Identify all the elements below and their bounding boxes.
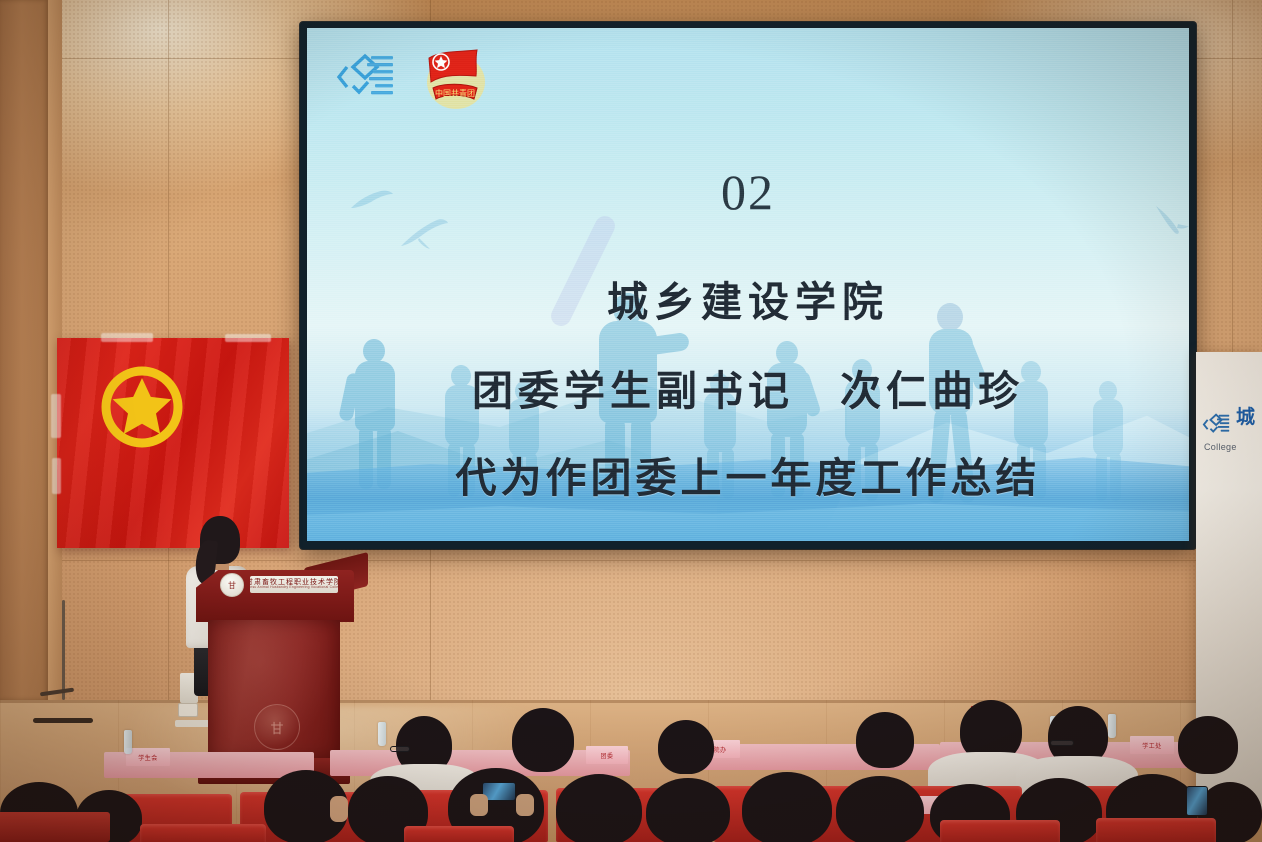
audience-head <box>512 708 574 772</box>
water-bottle <box>124 730 132 754</box>
audience-seat <box>404 826 514 842</box>
water-bottle <box>378 722 386 746</box>
slide-line-1: 城乡建设学院 <box>307 268 1189 328</box>
audience-namecard: 团委 <box>586 746 628 764</box>
bird-icon <box>397 216 449 250</box>
audience-head <box>836 776 924 842</box>
audience-head <box>856 712 914 768</box>
audience-namecard: 学工处 <box>1130 736 1174 754</box>
podium-nameplate-en: Gansu Animal Husbandry Engineering Vocat… <box>250 586 338 589</box>
communist-youth-league-emblem-icon: 中国共青团 <box>419 42 493 116</box>
podium-top: 甘 甘肃畜牧工程职业技术学院 Gansu Animal Husbandry En… <box>196 570 354 622</box>
audience-namecard: 学生会 <box>126 748 170 766</box>
audience-head <box>742 772 832 842</box>
water-bottle <box>1108 714 1116 738</box>
slide-canvas: 中国共青团 02 城乡建设学院 团委学生副书记 次仁曲珍 代为作团委上一年度工作… <box>307 28 1189 541</box>
banner-title-cn: 城 <box>1236 408 1255 427</box>
hand <box>470 794 488 816</box>
college-logo-icon <box>1202 410 1232 440</box>
audience-head <box>1178 716 1238 774</box>
hand <box>330 796 348 822</box>
smartphone[interactable] <box>1186 786 1208 816</box>
auditorium-scene: 中国共青团 02 城乡建设学院 团委学生副书记 次仁曲珍 代为作团委上一年度工作… <box>0 0 1262 842</box>
college-logo-icon <box>335 46 399 110</box>
podium-nameplate: 甘肃畜牧工程职业技术学院 Gansu Animal Husbandry Engi… <box>250 576 338 593</box>
hand <box>516 794 534 816</box>
floor-cable <box>62 600 65 700</box>
audience-seat <box>1096 818 1216 842</box>
audience-head <box>646 778 730 842</box>
audience-head <box>658 720 714 774</box>
slide-number: 02 <box>307 163 1189 221</box>
led-screen[interactable]: 中国共青团 02 城乡建设学院 团委学生副书记 次仁曲珍 代为作团委上一年度工作… <box>300 22 1196 549</box>
svg-text:中国共青团: 中国共青团 <box>435 88 475 98</box>
slide-line-3: 代为作团委上一年度工作总结 <box>307 444 1189 504</box>
front-table <box>0 812 110 842</box>
eyeglasses <box>1050 740 1074 746</box>
eyeglasses <box>390 746 410 752</box>
audience-seat <box>140 824 266 842</box>
audience-head <box>556 774 642 842</box>
audience-area: 学生会 团委 院办 学工处 各系部 代表 <box>0 690 1262 842</box>
flag-star-emblem-icon <box>97 362 187 452</box>
podium-seal: 甘 <box>220 573 244 597</box>
audience-seat <box>940 820 1060 842</box>
banner-title-en: College <box>1204 442 1237 452</box>
slide-line-2: 团委学生副书记 次仁曲珍 <box>307 357 1189 417</box>
wall-column-left <box>0 0 48 700</box>
